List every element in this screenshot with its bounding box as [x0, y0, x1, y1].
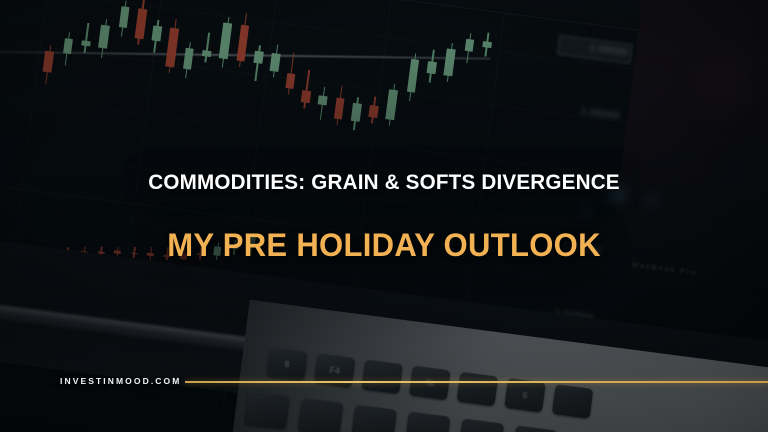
gold-divider-rule: [185, 381, 768, 383]
article-hero-banner: 1 Tag 3 Monate 7 Dez. 21 Dez. 4 Jan. 1.0…: [0, 0, 768, 432]
site-url: INVESTINMOOD.COM: [60, 376, 181, 386]
page-subtitle: MY PRE HOLIDAY OUTLOOK: [12, 227, 757, 264]
text-overlay: COMMODITIES: GRAIN & SOFTS DIVERGENCE MY…: [0, 0, 768, 432]
page-title: COMMODITIES: GRAIN & SOFTS DIVERGENCE: [15, 170, 752, 195]
